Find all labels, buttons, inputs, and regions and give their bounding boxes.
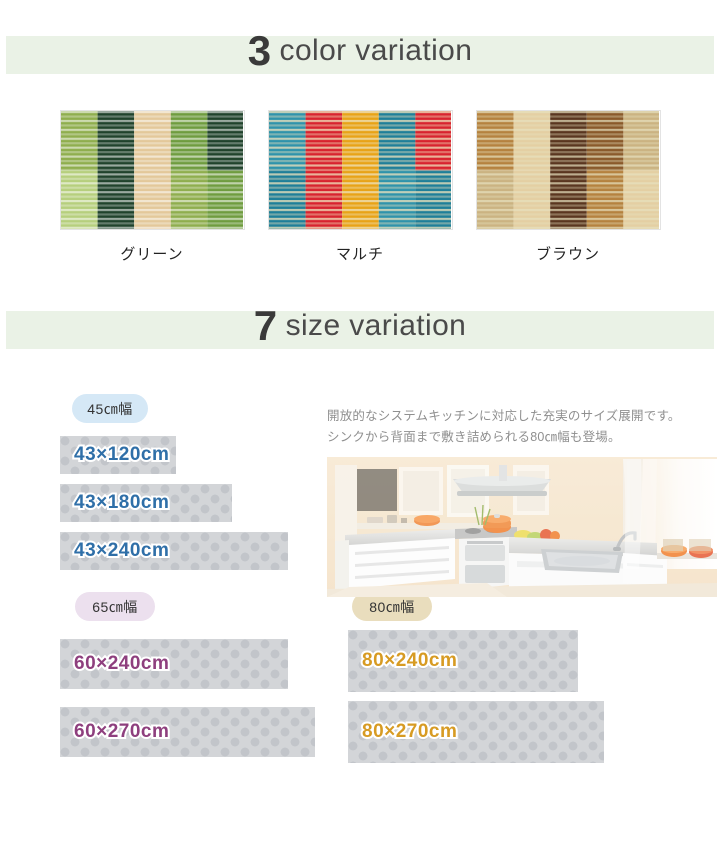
size-bar-60x240[interactable]: 60×240cm xyxy=(60,639,288,689)
heading-text: 3 color variation xyxy=(0,20,720,82)
color-swatch-green[interactable] xyxy=(60,110,245,230)
badge-width-65: 65㎝幅 xyxy=(75,592,155,621)
kitchen-photo xyxy=(327,457,717,597)
size-bar-80x270[interactable]: 80×270cm xyxy=(348,701,604,763)
color-swatch-brown[interactable] xyxy=(476,110,661,230)
heading-number: 3 xyxy=(248,30,271,72)
heading-number-2: 7 xyxy=(254,305,277,347)
size-bar-label: 80×270cm xyxy=(362,721,457,743)
color-item-multi[interactable]: マルチ xyxy=(268,110,453,264)
size-bar-43x120[interactable]: 43×120cm xyxy=(60,436,176,474)
heading-text-2: 7 size variation xyxy=(0,295,720,357)
color-item-brown[interactable]: ブラウン xyxy=(476,110,661,264)
weave-pattern-multi xyxy=(269,111,452,230)
size-bar-label: 80×240cm xyxy=(362,650,457,672)
weave-pattern-green xyxy=(61,111,244,230)
color-item-green[interactable]: グリーン xyxy=(60,110,245,264)
color-label-green: グリーン xyxy=(60,243,245,264)
heading-word-2: size variation xyxy=(286,311,467,341)
size-bar-label: 60×240cm xyxy=(74,653,169,675)
color-label-multi: マルチ xyxy=(268,243,453,264)
size-bar-80x240[interactable]: 80×240cm xyxy=(348,630,578,692)
kitchen-illustration xyxy=(327,457,717,597)
size-description: 開放的なシステムキッチンに対応した充実のサイズ展開です。 シンクから背面まで敷き… xyxy=(327,406,717,447)
size-bar-label: 43×180cm xyxy=(74,492,169,514)
color-label-brown: ブラウン xyxy=(476,243,661,264)
color-swatch-row: グリーン xyxy=(0,110,720,264)
size-description-line2: シンクから背面まで敷き詰められる80㎝幅も登場。 xyxy=(327,427,717,448)
badge-width-45: 45㎝幅 xyxy=(72,394,148,423)
size-bar-label: 43×240cm xyxy=(74,540,169,562)
size-bar-label: 60×270cm xyxy=(74,721,169,743)
weave-pattern-brown xyxy=(477,111,660,230)
size-bar-43x240[interactable]: 43×240cm xyxy=(60,532,288,570)
heading-word: color variation xyxy=(280,36,473,66)
color-variation-heading: 3 color variation xyxy=(0,20,720,82)
size-description-line1: 開放的なシステムキッチンに対応した充実のサイズ展開です。 xyxy=(327,406,717,427)
size-bar-label: 43×120cm xyxy=(74,444,169,466)
size-variation-heading: 7 size variation xyxy=(0,295,720,357)
size-bar-60x270[interactable]: 60×270cm xyxy=(60,707,315,757)
color-swatch-multi[interactable] xyxy=(268,110,453,230)
size-bar-43x180[interactable]: 43×180cm xyxy=(60,484,232,522)
